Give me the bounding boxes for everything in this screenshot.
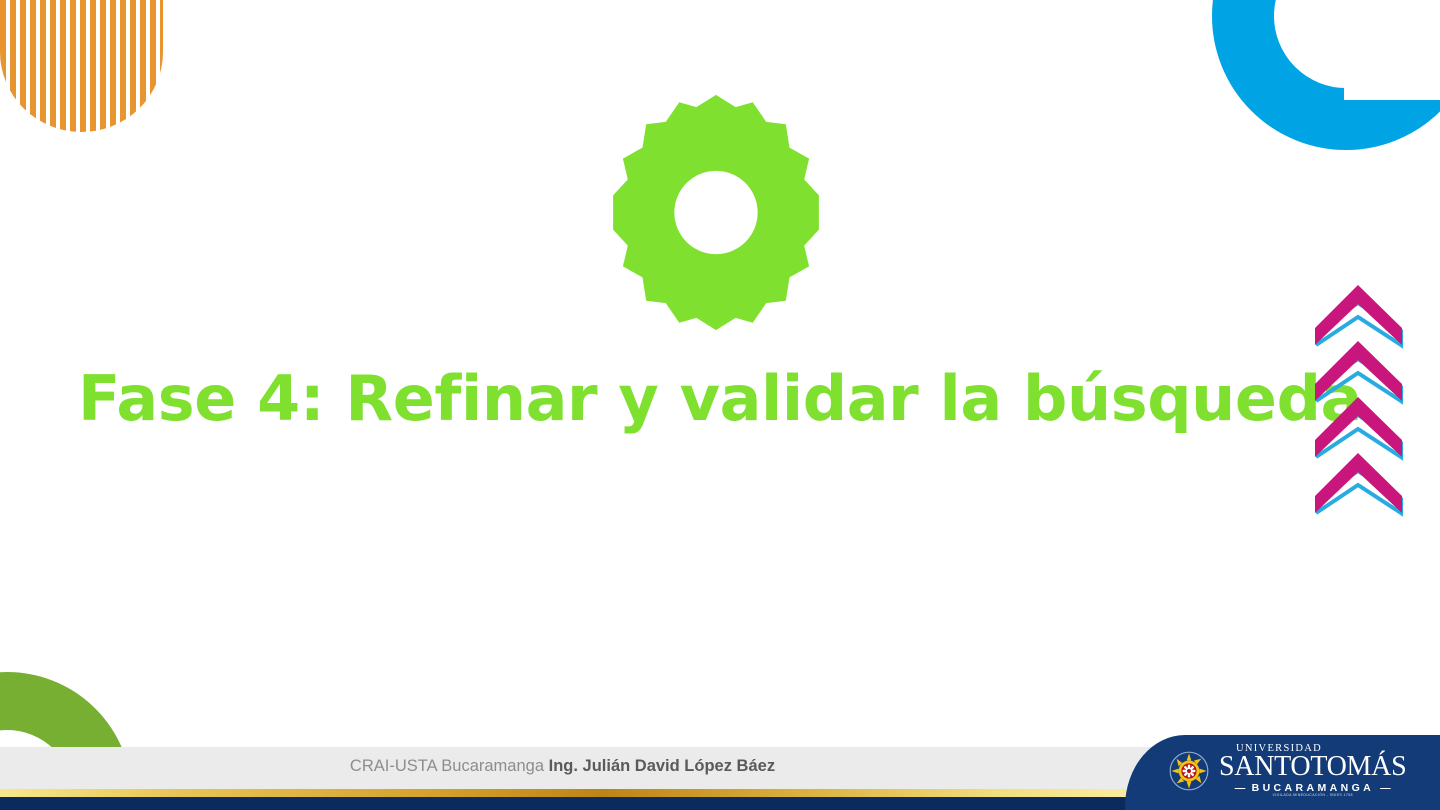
sun-emblem-icon bbox=[1169, 751, 1209, 791]
orange-stripes-pattern bbox=[0, 0, 163, 132]
footer-credit-author: Ing. Julián David López Báez bbox=[549, 757, 775, 775]
footer-gold-strip bbox=[0, 789, 1160, 797]
logo-wordmark: UNIVERSIDAD SANTOTOMÁS — BUCARAMANGA — V… bbox=[1219, 744, 1406, 798]
page-title: Fase 4: Refinar y validar la búsqueda bbox=[0, 363, 1440, 434]
logo-line-santo-tomas: SANTOTOMÁS bbox=[1219, 753, 1406, 781]
logo-line-legal: VIGILADA MINEDUCACIÓN - SNIES 1708 bbox=[1219, 794, 1406, 798]
logo-word-tomas: TOMÁS bbox=[1310, 751, 1406, 782]
chevron-stack-icon bbox=[1306, 283, 1411, 523]
logo-line-bucaramanga: — BUCARAMANGA — bbox=[1219, 783, 1406, 794]
footer-credit-org: CRAI-USTA Bucaramanga bbox=[350, 757, 544, 775]
logo-city-text: BUCARAMANGA bbox=[1252, 782, 1374, 794]
logo-word-santo: SANTO bbox=[1219, 751, 1310, 782]
logo-dash-right: — bbox=[1380, 782, 1391, 794]
orange-striped-half-disc-decoration bbox=[0, 0, 163, 132]
university-logo-panel: UNIVERSIDAD SANTOTOMÁS — BUCARAMANGA — V… bbox=[1125, 735, 1440, 810]
logo-content: UNIVERSIDAD SANTOTOMÁS — BUCARAMANGA — V… bbox=[1169, 744, 1406, 798]
cyan-arc-corner-mask bbox=[1344, 0, 1440, 100]
logo-dash-left: — bbox=[1235, 782, 1246, 794]
footer-credit: CRAI-USTA Bucaramanga Ing. Julián David … bbox=[0, 757, 1125, 776]
gear-icon bbox=[593, 90, 839, 335]
